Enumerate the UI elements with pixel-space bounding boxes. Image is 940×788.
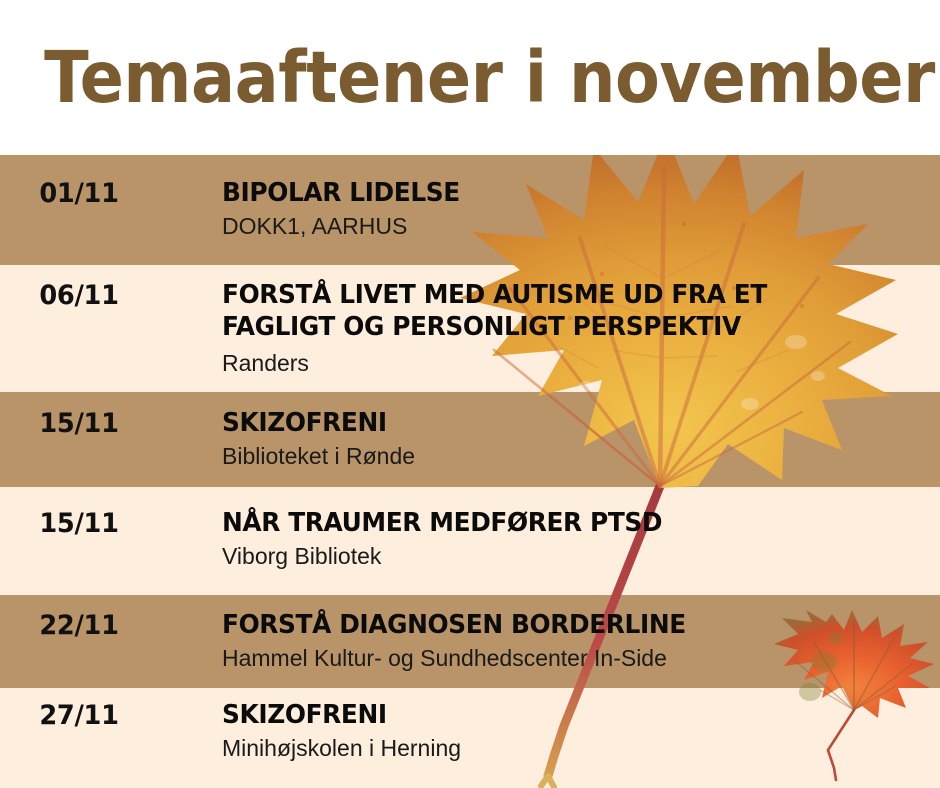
event-title: FORSTÅ LIVET MED AUTISME UD FRA ET FAGLI…: [222, 280, 881, 343]
event-date: 15/11: [4, 508, 154, 539]
event-date: 01/11: [4, 178, 154, 209]
event-venue: Biblioteket i Rønde: [222, 442, 940, 472]
event-title: BIPOLAR LIDELSE: [222, 178, 908, 210]
event-date: 06/11: [4, 280, 154, 311]
event-body: SKIZOFRENI Minihøjskolen i Herning: [158, 700, 940, 764]
event-body: SKIZOFRENI Biblioteket i Rønde: [158, 408, 940, 472]
event-title: FORSTÅ DIAGNOSEN BORDERLINE: [222, 610, 908, 642]
poster-root: Temaaftener i november 01/11 BIPOLAR LID…: [0, 0, 940, 788]
event-venue: DOKK1, AARHUS: [222, 212, 940, 242]
event-row: 01/11 BIPOLAR LIDELSE DOKK1, AARHUS: [0, 178, 940, 242]
event-body: FORSTÅ LIVET MED AUTISME UD FRA ET FAGLI…: [158, 280, 940, 379]
event-body: NÅR TRAUMER MEDFØRER PTSD Viborg Bibliot…: [158, 508, 940, 572]
event-date: 15/11: [4, 408, 154, 439]
event-row: 15/11 SKIZOFRENI Biblioteket i Rønde: [0, 408, 940, 472]
event-title: SKIZOFRENI: [222, 700, 908, 732]
event-row: 22/11 FORSTÅ DIAGNOSEN BORDERLINE Hammel…: [0, 610, 940, 674]
event-date: 22/11: [4, 610, 154, 641]
event-row: 06/11 FORSTÅ LIVET MED AUTISME UD FRA ET…: [0, 280, 940, 379]
event-title: SKIZOFRENI: [222, 408, 908, 440]
event-venue: Hammel Kultur- og Sundhedscenter In-Side: [222, 644, 940, 674]
event-venue: Viborg Bibliotek: [222, 542, 940, 572]
event-venue: Minihøjskolen i Herning: [222, 734, 940, 764]
event-venue: Randers: [222, 349, 940, 379]
event-row: 15/11 NÅR TRAUMER MEDFØRER PTSD Viborg B…: [0, 508, 940, 572]
event-date: 27/11: [4, 700, 154, 731]
event-body: BIPOLAR LIDELSE DOKK1, AARHUS: [158, 178, 940, 242]
page-title: Temaaftener i november: [0, 42, 935, 113]
event-row: 27/11 SKIZOFRENI Minihøjskolen i Herning: [0, 700, 940, 764]
event-body: FORSTÅ DIAGNOSEN BORDERLINE Hammel Kultu…: [158, 610, 940, 674]
title-bar: Temaaftener i november: [0, 0, 940, 155]
event-title: NÅR TRAUMER MEDFØRER PTSD: [222, 508, 908, 540]
